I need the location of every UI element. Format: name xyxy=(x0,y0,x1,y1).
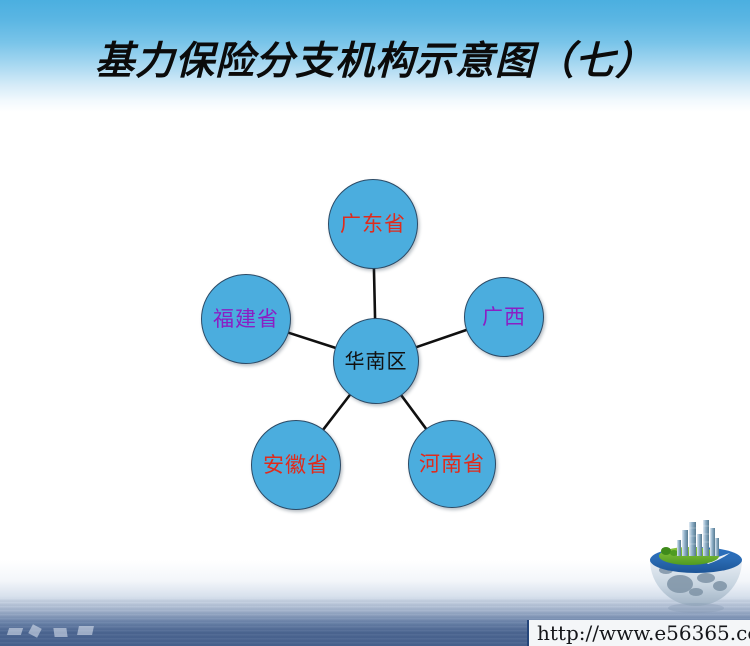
diagram-node-fujian[interactable]: 福建省 xyxy=(201,274,291,364)
watermark-url: http://www.e56365.com xyxy=(529,621,750,645)
diagram-node-label: 广西 xyxy=(482,307,526,328)
diagram-node-guangdong[interactable]: 广东省 xyxy=(328,179,418,269)
watermark-bar: http://www.e56365.com xyxy=(527,620,750,646)
diagram-node-label: 安徽省 xyxy=(263,455,329,476)
diagram-node-label: 广东省 xyxy=(340,214,406,235)
diagram-node-guangxi[interactable]: 广西 xyxy=(464,277,544,357)
diagram-node-label: 华南区 xyxy=(345,351,408,371)
page-title: 基力保险分支机构示意图（七） xyxy=(0,30,750,86)
diagram-node-center[interactable]: 华南区 xyxy=(333,318,419,404)
org-diagram: 华南区 广东省 广西 福建省 安徽省 河南省 xyxy=(0,0,750,646)
diagram-node-henan[interactable]: 河南省 xyxy=(408,420,496,508)
diagram-node-label: 河南省 xyxy=(419,454,485,475)
diagram-node-label: 福建省 xyxy=(213,309,279,330)
earth-city-globe-logo xyxy=(644,512,748,616)
presentation-slide: 基力保险分支机构示意图（七） 华南区 广东省 广西 福建省 安徽省 河南省 xyxy=(0,0,750,646)
diagram-node-anhui[interactable]: 安徽省 xyxy=(251,420,341,510)
